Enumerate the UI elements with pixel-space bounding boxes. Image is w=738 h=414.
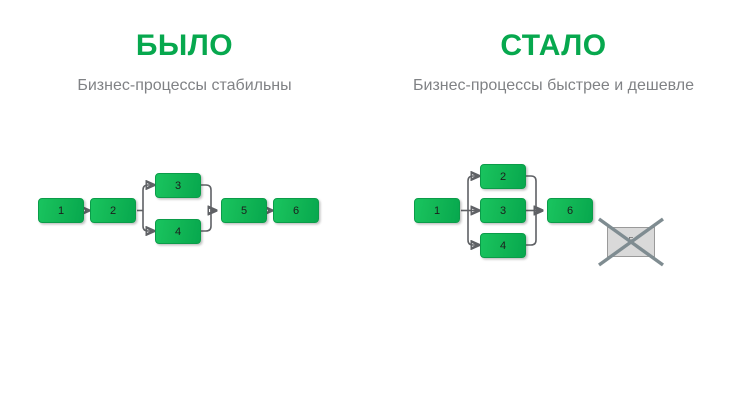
- flow-node-before-2[interactable]: 2: [90, 198, 136, 223]
- flow-node-removed-label: 5: [608, 228, 654, 256]
- flow-node-before-1[interactable]: 1: [38, 198, 84, 223]
- flow-node-after-6[interactable]: 6: [547, 198, 593, 223]
- flow-node-after-4[interactable]: 4: [480, 233, 526, 258]
- slide-canvas: БЫЛО Бизнес-процессы стабильны СТАЛО Биз…: [0, 0, 738, 414]
- flow-node-removed-5: 5: [607, 227, 655, 257]
- flow-node-before-6[interactable]: 6: [273, 198, 319, 223]
- flow-node-before-5[interactable]: 5: [221, 198, 267, 223]
- flow-node-after-3[interactable]: 3: [480, 198, 526, 223]
- flow-node-after-2[interactable]: 2: [480, 164, 526, 189]
- flow-node-after-1[interactable]: 1: [414, 198, 460, 223]
- flow-node-before-4[interactable]: 4: [155, 219, 201, 244]
- flow-node-before-3[interactable]: 3: [155, 173, 201, 198]
